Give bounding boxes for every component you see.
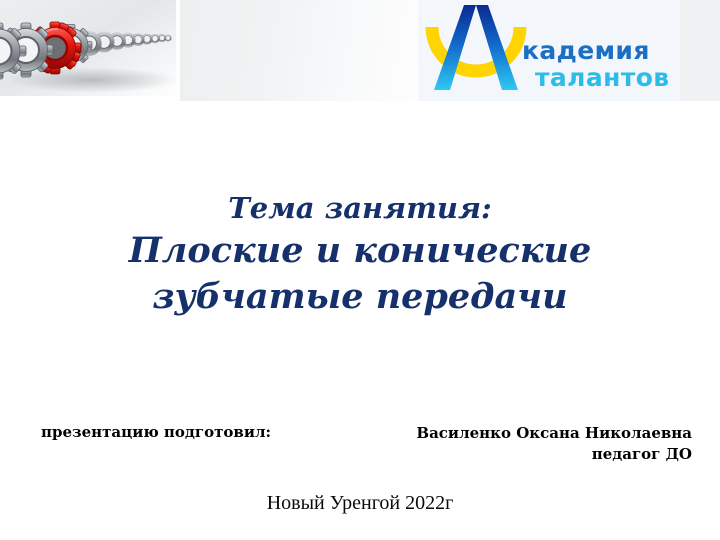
akademiya-talantov-logo-mark: [422, 2, 530, 96]
logo-wordmark: кадемия талантов: [522, 38, 670, 90]
logo-word-talantov: талантов: [522, 65, 670, 90]
title-line-2: зубчатые передачи: [0, 274, 720, 320]
author-role: педагог ДО: [416, 444, 692, 465]
slide-title: Тема занятия: Плоские и конические зубча…: [0, 188, 720, 320]
author-details: Василенко Оксана Николаевна педагог ДО: [416, 423, 692, 465]
slide-header: кадемия талантов: [0, 0, 720, 101]
gears-illustration: [0, 0, 176, 101]
gears-row-photo: [0, 0, 176, 101]
header-right-filler: [680, 0, 720, 101]
place-and-year: Новый Уренгой 2022г: [0, 492, 720, 515]
author-name: Василенко Оксана Николаевна: [416, 423, 692, 444]
prepared-by-label: презентацию подготовил:: [41, 423, 271, 441]
author-block: презентацию подготовил: Василенко Оксана…: [0, 423, 720, 478]
header-gradient-band: [180, 0, 417, 101]
title-line-1: Плоские и конические: [0, 228, 720, 274]
organization-logo: кадемия талантов: [418, 0, 680, 101]
title-line-topic-label: Тема занятия:: [0, 188, 720, 228]
logo-word-akademiya: кадемия: [522, 38, 670, 63]
